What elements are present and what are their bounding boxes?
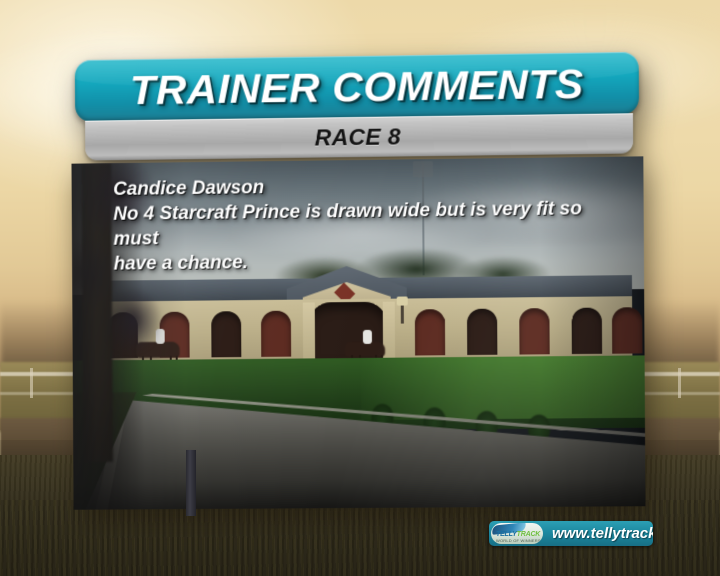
photo-rider [363,330,372,344]
race-number-label: RACE 8 [315,123,401,151]
tellytrack-url-label: www.tellytrack.com [552,525,653,542]
photo-lamp [401,304,404,324]
panel-header-bar: TRAINER COMMENTS [75,52,639,122]
photo-stall-arch [612,307,643,354]
race-subtitle-bar: RACE 8 [85,113,633,160]
trainer-comments-panel: TRAINER COMMENTS RACE 8 [63,52,654,514]
background-rail-post [678,368,681,398]
photo-lawn-highlight [361,355,645,420]
photo-entry-column [303,302,315,360]
photo-stall-arch [261,311,291,357]
comment-line-1: No 4 Starcraft Prince is drawn wide but … [113,196,625,252]
logo-word-telly: TELLY [496,531,517,538]
tellytrack-logo-wordmark: TELLYTRACK [496,531,540,538]
photo-stall-arch [572,308,603,354]
photo-stall-arch [211,311,241,357]
trainer-comment-block: Candice Dawson No 4 Starcraft Prince is … [113,171,626,277]
tellytrack-logo-icon: TELLYTRACK WORLD OF WINNERS [491,523,543,544]
photo-stall-arch [415,309,445,355]
stables-photo: Candice Dawson No 4 Starcraft Prince is … [71,156,645,509]
photo-stall-arch [519,308,549,354]
tellytrack-logo-tagline: WORLD OF WINNERS [496,538,541,543]
panel-support-post [186,450,196,516]
logo-word-track: TRACK [517,531,541,538]
tellytrack-watermark[interactable]: TELLYTRACK WORLD OF WINNERS www.tellytra… [489,521,653,546]
page-title: TRAINER COMMENTS [129,60,583,113]
broadcast-screen: TRAINER COMMENTS RACE 8 [0,0,720,576]
photo-stall-arch [467,309,497,355]
background-rail-post [30,368,33,398]
